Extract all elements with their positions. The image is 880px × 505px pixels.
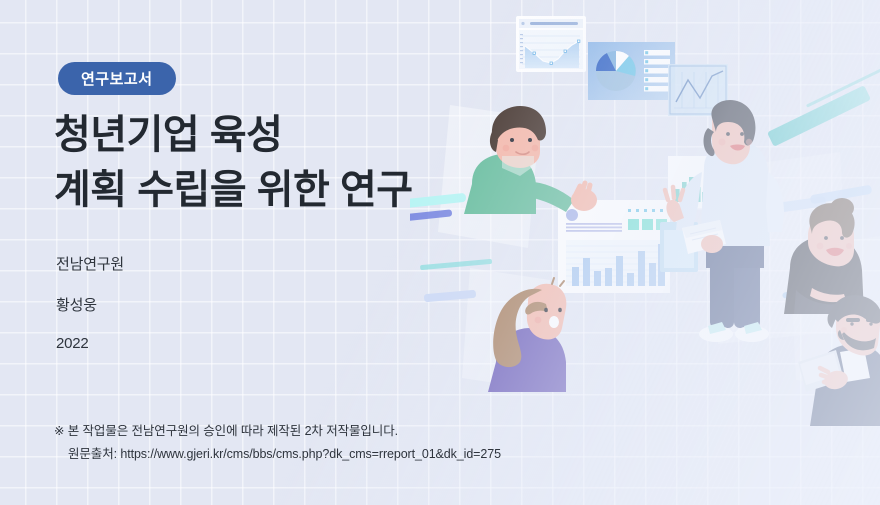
metadata-year: 2022 xyxy=(56,335,124,352)
line-chart-card xyxy=(516,16,586,72)
bar-dashboard-card xyxy=(558,200,670,293)
report-type-badge: 연구보고서 xyxy=(58,62,176,95)
report-metadata: 전남연구원 황성웅 2022 xyxy=(56,253,124,372)
footer-source-line: 원문출처: https://www.gjeri.kr/cms/bbs/cms.p… xyxy=(54,443,501,466)
pie-chart-card xyxy=(588,42,675,100)
report-type-badge-label: 연구보고서 xyxy=(81,68,153,89)
report-cover: 연구보고서 청년기업 육성 계획 수립을 위한 연구 전남연구원 황성웅 202… xyxy=(0,0,880,505)
footer-notice: ※ 본 작업물은 전남연구원의 승인에 따라 제작된 2차 저작물입니다. 원문… xyxy=(54,420,501,466)
metadata-author: 황성웅 xyxy=(56,294,124,315)
metadata-organization: 전남연구원 xyxy=(56,253,124,274)
page-title: 청년기업 육성 계획 수립을 위한 연구 xyxy=(54,108,413,218)
footer-notice-line: ※ 본 작업물은 전남연구원의 승인에 따라 제작된 2차 저작물입니다. xyxy=(54,420,501,443)
